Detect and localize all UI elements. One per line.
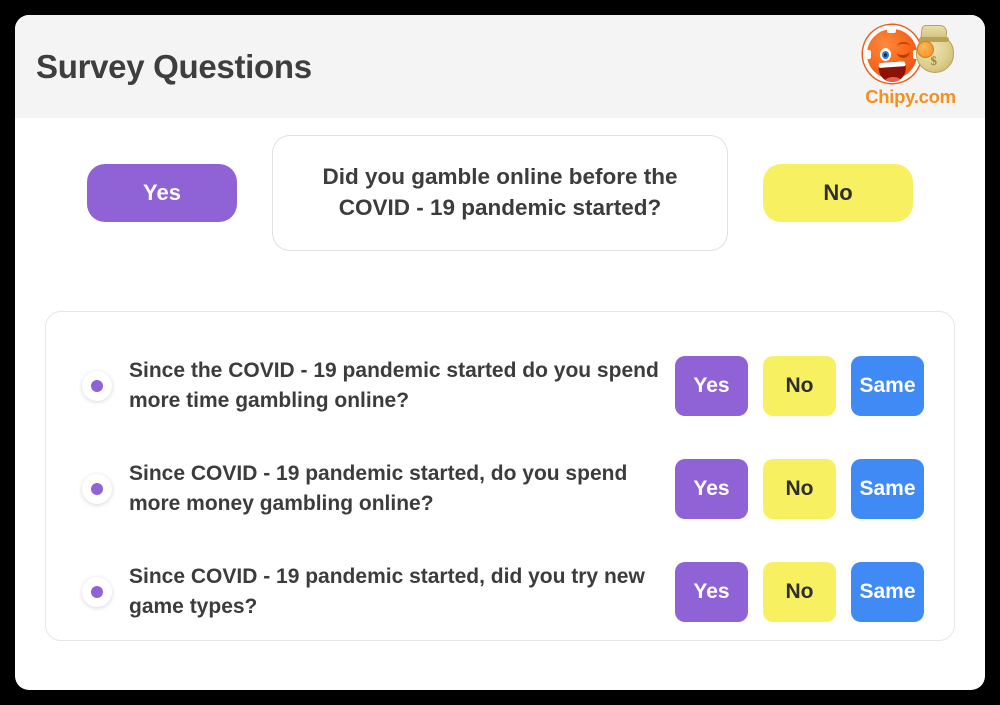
- answer-yes-button[interactable]: Yes: [675, 356, 748, 416]
- chipy-logo[interactable]: $ Chipy.com: [858, 23, 963, 111]
- eye-icon: [880, 48, 891, 61]
- survey-card: Survey Questions $ Chipy: [15, 15, 985, 690]
- question-row: Since COVID - 19 pandemic started, did y…: [62, 540, 930, 643]
- question-row: Since the COVID - 19 pandemic started do…: [62, 334, 930, 437]
- page-title: Survey Questions: [36, 48, 312, 86]
- bullet-icon: [82, 577, 112, 607]
- card-header: Survey Questions $ Chipy: [15, 15, 985, 118]
- smiling-mouth-icon: [878, 61, 906, 83]
- answer-yes-button[interactable]: Yes: [675, 562, 748, 622]
- questions-panel: Since the COVID - 19 pandemic started do…: [45, 311, 955, 641]
- primary-question-text: Did you gamble online before the COVID -…: [272, 135, 728, 251]
- question-text: Since COVID - 19 pandemic started, do yo…: [129, 459, 675, 519]
- answer-group: Yes No Same: [675, 459, 924, 519]
- answer-same-button[interactable]: Same: [851, 562, 924, 622]
- primary-yes-button[interactable]: Yes: [87, 164, 237, 222]
- question-row: Since COVID - 19 pandemic started, do yo…: [62, 437, 930, 540]
- answer-no-button[interactable]: No: [763, 562, 836, 622]
- answer-same-button[interactable]: Same: [851, 356, 924, 416]
- eyebrow-icon: [897, 42, 910, 47]
- dollar-sign-icon: $: [931, 53, 938, 69]
- primary-question-row: Yes Did you gamble online before the COV…: [15, 118, 985, 268]
- answer-yes-button[interactable]: Yes: [675, 459, 748, 519]
- answer-same-button[interactable]: Same: [851, 459, 924, 519]
- bullet-icon: [82, 474, 112, 504]
- chipy-mascot-icon: $: [861, 23, 961, 85]
- answer-group: Yes No Same: [675, 562, 924, 622]
- question-text: Since COVID - 19 pandemic started, did y…: [129, 562, 675, 622]
- poker-chip-icon: [863, 25, 921, 83]
- question-text: Since the COVID - 19 pandemic started do…: [129, 356, 675, 416]
- answer-group: Yes No Same: [675, 356, 924, 416]
- primary-no-button[interactable]: No: [763, 164, 913, 222]
- bullet-icon: [82, 371, 112, 401]
- winking-eye-icon: [896, 50, 910, 58]
- logo-wordmark: Chipy.com: [865, 86, 956, 108]
- answer-no-button[interactable]: No: [763, 356, 836, 416]
- answer-no-button[interactable]: No: [763, 459, 836, 519]
